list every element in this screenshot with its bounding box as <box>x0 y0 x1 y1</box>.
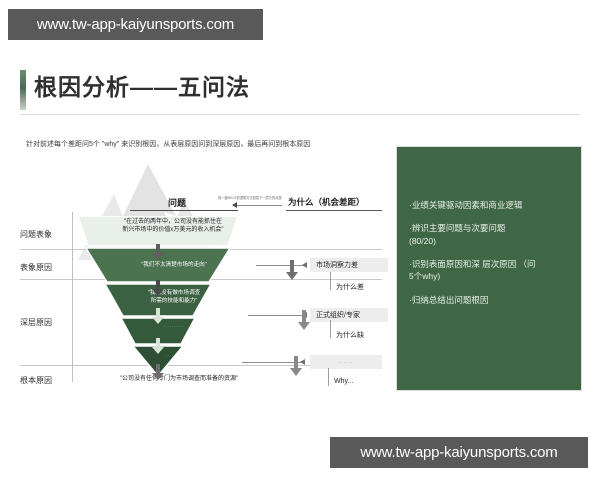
down-arrow-icon <box>298 310 310 330</box>
down-arrow-icon <box>152 338 164 354</box>
why-label-3: Why... <box>334 378 353 385</box>
statement-root-cause: "公司没有任何专门为市场调查而准备的资源" <box>84 375 274 383</box>
problem-label: 问题 <box>168 196 186 209</box>
key-point-item: ·识别表面原因和深 层次原因 （问 5个why) <box>409 258 569 283</box>
key-points-panel: ·业绩关键驱动因素和商业逻辑 ·辨识主要问题与次要问题 (80/20) ·识别表… <box>396 146 582 391</box>
why-label-2: 为什么缺 <box>336 330 364 340</box>
key-point-item: ·辨识主要问题与次要问题 (80/20) <box>409 222 569 247</box>
stage-label-surface-cause: 表象原因 <box>20 262 68 273</box>
why-opportunity-gap-underline <box>286 210 382 211</box>
arrow-left-icon <box>232 202 237 208</box>
connector-line-1 <box>256 265 306 266</box>
down-arrow-icon <box>152 364 164 380</box>
down-arrow-icon <box>152 280 164 296</box>
why-opportunity-gap-label: 为什么（机会差距） <box>288 196 365 208</box>
cause-chip-hidden: ...... <box>310 355 382 369</box>
stage-label-problem-symptom: 问题表象 <box>20 229 68 240</box>
key-point-item: ·业绩关键驱动因素和商业逻辑 <box>409 199 569 211</box>
page-title: 根因分析——五问法 <box>34 68 250 102</box>
title-divider <box>20 114 580 115</box>
slide-subtitle: 针对前述每个差距问5个 "why" 来识别根因，从表层原因问到深层原因，最后再问… <box>26 140 386 150</box>
watermark-bottom: www.tw-app-kaiyunsports.com <box>330 437 588 468</box>
root-cause-funnel-diagram: 问题表象 表象原因 深层原因 根本原因 问题 用一套MECE的逻辑方法回答下一层… <box>20 160 382 395</box>
title-accent-bar <box>20 70 26 110</box>
stage-label-deep-cause: 深层原因 <box>20 317 68 328</box>
why-bracket-2 <box>330 320 331 338</box>
statement-hidden-2: ........ <box>136 352 212 357</box>
arrow-left-icon <box>302 262 307 268</box>
cause-chip-formal-org: 正式组织/专家 <box>310 308 388 322</box>
why-bracket-1 <box>330 272 331 290</box>
watermark-top: www.tw-app-kaiyunsports.com <box>8 9 263 40</box>
problem-underline <box>130 210 238 211</box>
statement-hidden-1: .......... <box>128 323 220 328</box>
down-arrow-icon <box>290 356 302 376</box>
down-arrow-icon <box>152 308 164 324</box>
slide-header: 根因分析——五问法 <box>0 68 600 116</box>
key-point-item: ·归纳总结出问题根因 <box>409 294 569 306</box>
stage-label-rule <box>72 212 73 382</box>
stage-label-root-cause: 根本原因 <box>20 375 68 386</box>
connector-line-top <box>234 205 282 206</box>
down-arrow-icon <box>152 244 164 260</box>
problem-note: 用一套MECE的逻辑方法回答下一层次的问题 <box>218 196 288 200</box>
statement-deep-cause: "我们没有做市场调查 所需的技能和能力" <box>118 290 230 305</box>
statement-surface-cause: "我们不太清楚市场的走向" <box>114 262 234 270</box>
cause-chip-market-insight: 市场洞察力差 <box>310 258 388 272</box>
why-bracket-3 <box>328 368 329 386</box>
statement-problem: "在过去的两年中，公司没有能抓住在 新兴市场中的价值x万美元的收入机会" <box>108 218 238 234</box>
why-label-1: 为什么差 <box>336 282 364 292</box>
down-arrow-icon <box>286 260 298 280</box>
